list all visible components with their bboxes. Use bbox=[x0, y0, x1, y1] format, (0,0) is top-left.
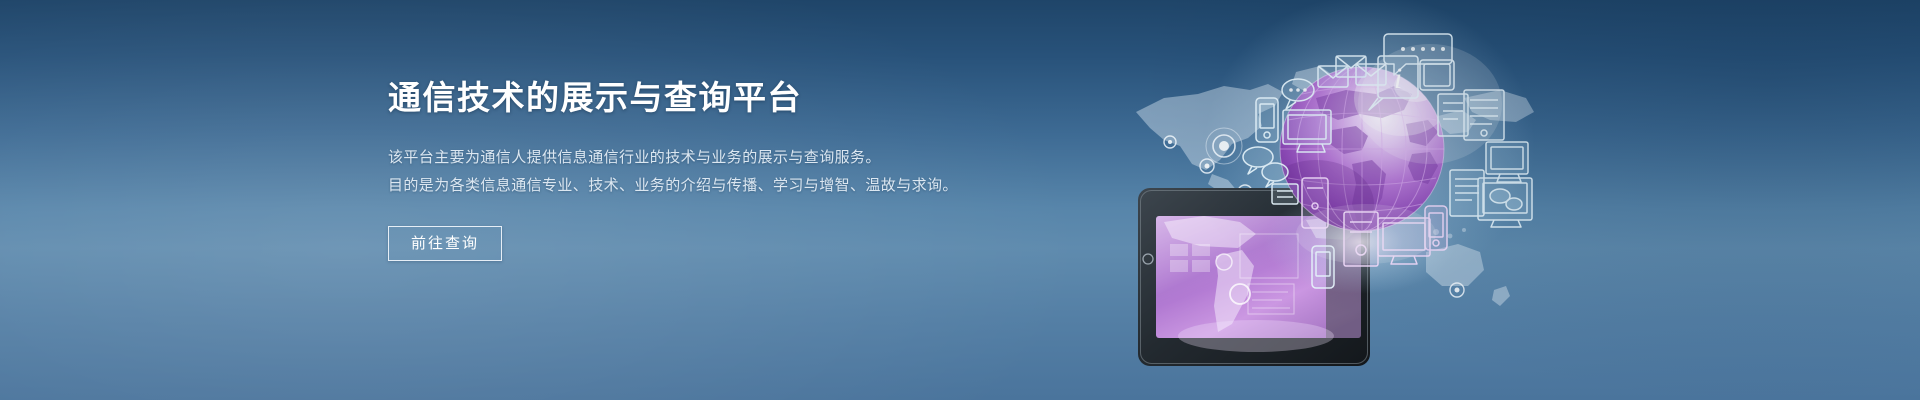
hero-banner: i bbox=[0, 0, 1920, 400]
description-line-2: 目的是为各类信息通信专业、技术、业务的介绍与传播、学习与增智、温故与求询。 bbox=[388, 172, 1008, 200]
go-to-query-button[interactable]: 前往查询 bbox=[388, 226, 502, 261]
description-line-1: 该平台主要为通信人提供信息通信行业的技术与业务的展示与查询服务。 bbox=[388, 144, 1008, 172]
document-icon bbox=[1272, 184, 1298, 204]
mobile-phone-icon bbox=[1256, 98, 1278, 142]
hero-description: 该平台主要为通信人提供信息通信行业的技术与业务的展示与查询服务。 目的是为各类信… bbox=[388, 118, 1008, 200]
hero-artwork: i bbox=[1120, 0, 1540, 366]
document-icon bbox=[1450, 170, 1484, 216]
hero-copy: 通信技术的展示与查询平台 该平台主要为通信人提供信息通信行业的技术与业务的展示与… bbox=[388, 78, 1008, 261]
page-title: 通信技术的展示与查询平台 bbox=[388, 78, 1008, 118]
monitor-icon bbox=[1478, 178, 1532, 227]
